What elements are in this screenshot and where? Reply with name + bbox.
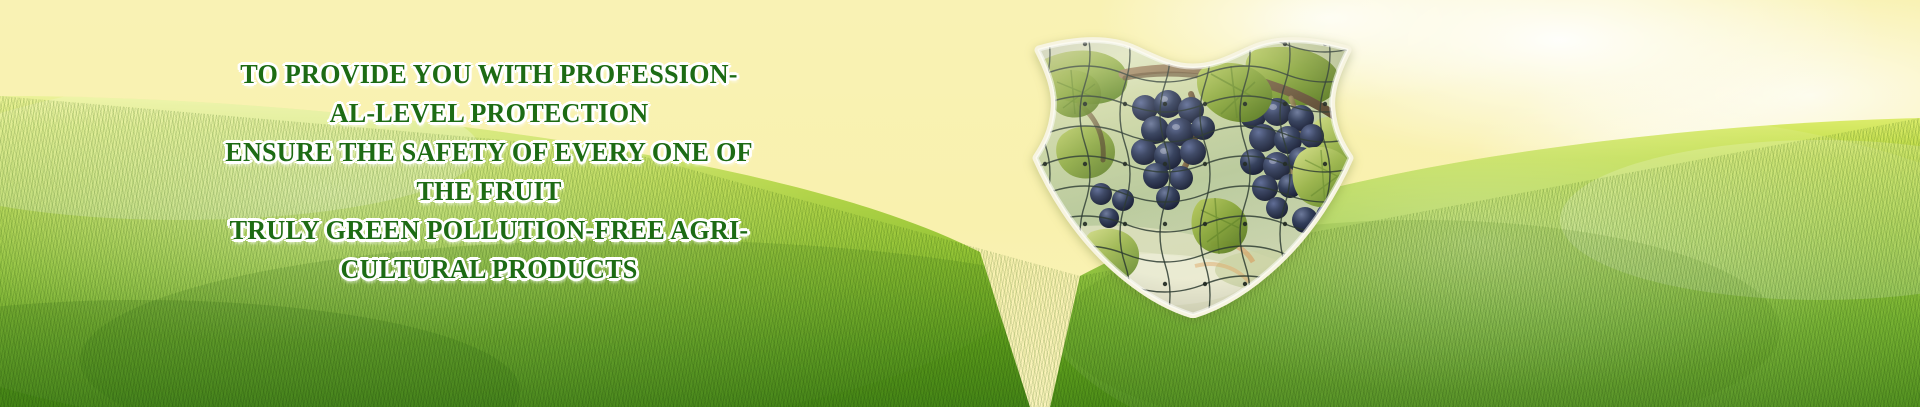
headline-line-5: TRULY GREEN POLLUTION-FREE AGRI- [15,211,964,250]
headline-line-3: ENSURE THE SAFETY OF EVERY ONE OF [15,133,964,172]
headline-text-block: TO PROVIDE YOU WITH PROFESSION- AL-LEVEL… [0,55,978,289]
headline-line-1: TO PROVIDE YOU WITH PROFESSION- [15,55,964,94]
vineyard-photo [1005,34,1381,318]
headline-line-2: AL-LEVEL PROTECTION [15,94,964,133]
hero-banner: TO PROVIDE YOU WITH PROFESSION- AL-LEVEL… [0,0,1920,407]
shield-badge [1005,34,1381,318]
headline-line-4: THE FRUIT [15,172,964,211]
headline-line-6: CULTURAL PRODUCTS [15,250,964,289]
